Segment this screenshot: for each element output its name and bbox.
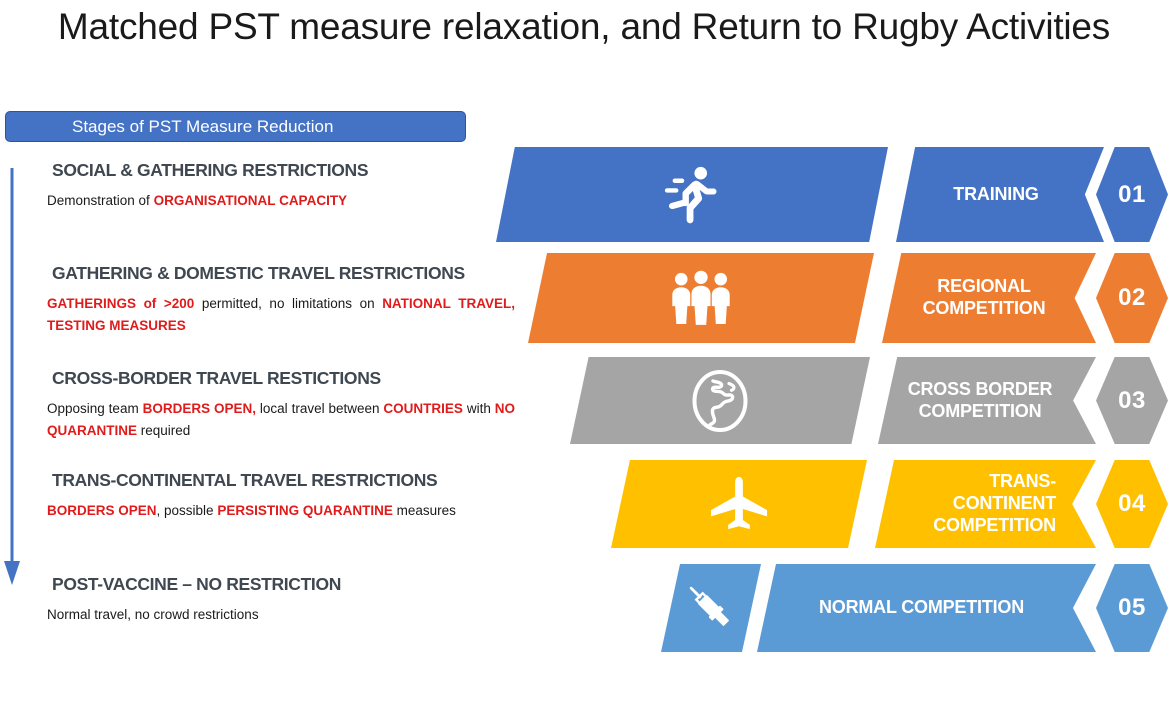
funnel-row-2: REGIONALCOMPETITION 02 — [528, 253, 1168, 343]
funnel-row-1: TRAINING 01 — [496, 147, 1168, 242]
funnel-number-5: 05 — [1118, 594, 1146, 622]
number-panel-2: 02 — [1096, 253, 1168, 343]
number-panel-1: 01 — [1096, 147, 1168, 242]
funnel-number-1: 01 — [1118, 181, 1146, 209]
icon-panel-3 — [570, 357, 870, 444]
funnel-label-4: TRANS-CONTINENTCOMPETITION — [875, 471, 1096, 537]
label-panel-5: NORMAL COMPETITION — [757, 564, 1096, 652]
airplane-icon — [708, 475, 770, 533]
funnel-number-4: 04 — [1118, 490, 1146, 518]
group-of-people-icon — [666, 269, 736, 327]
funnel-number-2: 02 — [1118, 284, 1146, 312]
number-panel-5: 05 — [1096, 564, 1168, 652]
label-panel-1: TRAINING — [896, 147, 1104, 242]
funnel-row-4: TRANS-CONTINENTCOMPETITION 04 — [611, 460, 1168, 548]
number-panel-3: 03 — [1096, 357, 1168, 444]
funnel-row-5: NORMAL COMPETITION 05 — [661, 564, 1168, 652]
globe-icon — [691, 369, 749, 433]
label-panel-2: REGIONALCOMPETITION — [882, 253, 1096, 343]
number-panel-4: 04 — [1096, 460, 1168, 548]
funnel-label-3: CROSS BORDERCOMPETITION — [878, 379, 1096, 423]
funnel-diagram: TRAINING 01 REGIONALCOMPETITION 02 — [0, 0, 1168, 718]
funnel-number-3: 03 — [1118, 387, 1146, 415]
funnel-label-1: TRAINING — [896, 184, 1104, 206]
icon-panel-1 — [496, 147, 888, 242]
funnel-label-2: REGIONALCOMPETITION — [882, 276, 1096, 320]
icon-panel-4 — [611, 460, 867, 548]
funnel-label-5: NORMAL COMPETITION — [757, 597, 1096, 619]
icon-panel-5 — [661, 564, 761, 652]
funnel-row-3: CROSS BORDERCOMPETITION 03 — [570, 357, 1168, 444]
icon-panel-2 — [528, 253, 874, 343]
running-person-icon — [661, 164, 723, 226]
syringe-icon — [682, 579, 740, 637]
label-panel-4: TRANS-CONTINENTCOMPETITION — [875, 460, 1096, 548]
label-panel-3: CROSS BORDERCOMPETITION — [878, 357, 1096, 444]
